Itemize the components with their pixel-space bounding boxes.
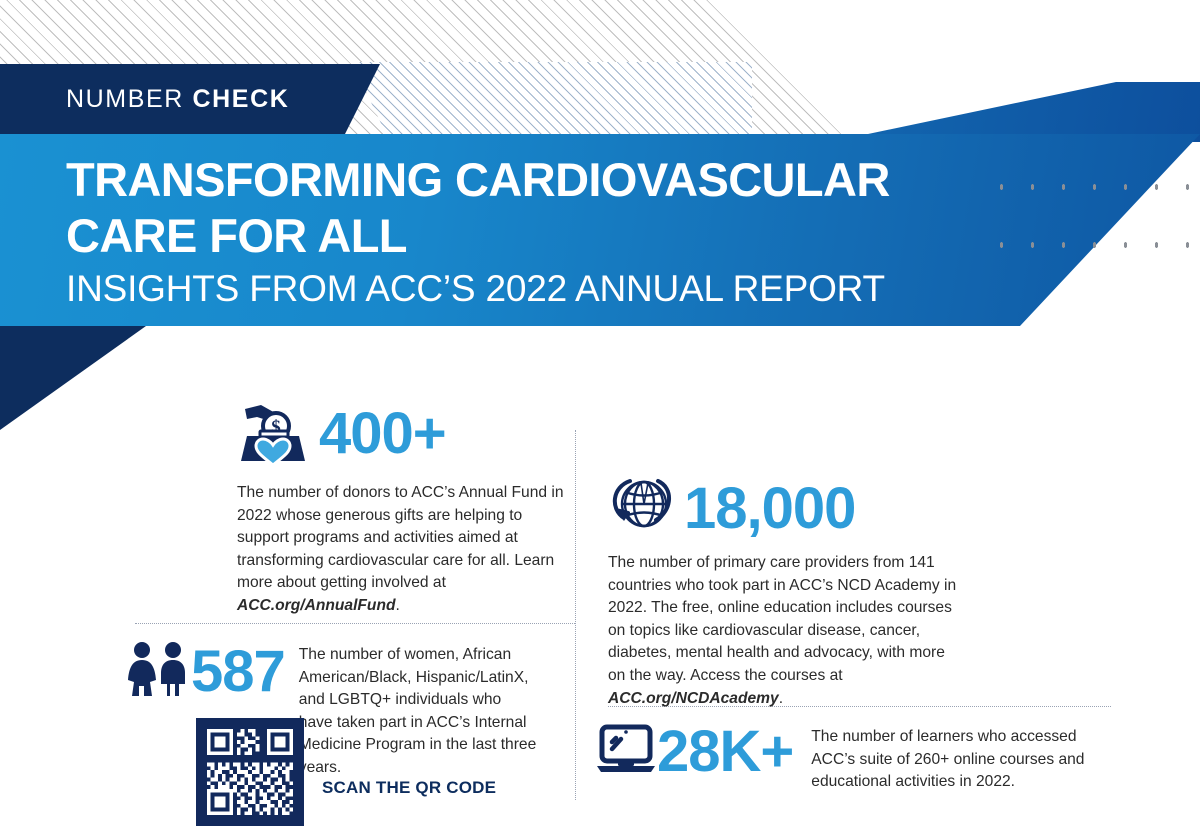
stat-body-text: The number of primary care providers fro…	[608, 554, 956, 684]
stat-body-online-learners: The number of learners who accessed ACC’…	[811, 726, 1101, 794]
stat-body-donors: The number of donors to ACC’s Annual Fun…	[237, 482, 567, 618]
page-title-line-1: TRANSFORMING CARDIOVASCULAR	[66, 152, 966, 208]
number-check-tab: NUMBER CHECK	[0, 64, 380, 134]
page-subtitle: INSIGHTS FROM ACC’S 2022 ANNUAL REPORT	[66, 268, 966, 310]
stat-number-online-learners: 28K+	[657, 723, 793, 781]
stat-body-suffix: .	[779, 690, 783, 707]
stat-body-ncd-academy: The number of primary care providers fro…	[608, 552, 958, 710]
stat-number-donors: 400+	[319, 405, 446, 463]
stat-body-internal-medicine: The number of women, African American/Bl…	[299, 644, 539, 780]
eyebrow-label-bold: CHECK	[192, 85, 289, 113]
donation-box-icon: $	[237, 395, 309, 472]
column-divider	[575, 430, 576, 800]
stat-block-online-learners: 28K+ The number of learners who accessed…	[595, 722, 1120, 794]
stat-body-wrap-internal-medicine: The number of women, African American/Bl…	[299, 640, 539, 780]
stat-headline-internal-medicine: 587	[125, 640, 285, 703]
diagonal-hatch-pattern-secondary	[352, 62, 752, 134]
left-column-divider	[135, 623, 575, 624]
stat-block-ncd-academy: 18,000 The number of primary care provid…	[608, 475, 958, 710]
stat-block-internal-medicine: 587 The number of women, African America…	[125, 640, 575, 780]
dot-grid-pattern	[980, 152, 1200, 262]
globe-icon	[608, 475, 674, 542]
stat-number-internal-medicine: 587	[191, 643, 285, 701]
two-people-icon	[125, 640, 191, 703]
laptop-icon	[595, 722, 657, 781]
stat-body-text: The number of donors to ACC’s Annual Fun…	[237, 484, 564, 591]
scan-qr-label: SCAN THE QR CODE	[322, 778, 496, 798]
stat-number-ncd-academy: 18,000	[684, 480, 855, 538]
page-title-line-2: CARE FOR ALL	[66, 208, 966, 264]
stat-link-ncd-academy[interactable]: ACC.org/NCDAcademy	[608, 690, 779, 707]
navy-corner-triangle	[0, 326, 150, 430]
qr-code-matrix	[203, 725, 297, 819]
qr-code[interactable]	[196, 718, 304, 826]
qr-code-canvas[interactable]	[196, 718, 304, 826]
header-region: NUMBER CHECK TRANSFORMING CARDIOVASCULAR…	[0, 0, 1200, 430]
stat-body-suffix: .	[396, 597, 400, 614]
stat-headline-online-learners: 28K+	[595, 722, 793, 781]
stat-body-wrap-online-learners: The number of learners who accessed ACC’…	[811, 722, 1101, 794]
stat-block-donors: $ 400+ The number of donors to ACC’s Ann…	[237, 395, 567, 618]
eyebrow-label: NUMBER CHECK	[66, 85, 289, 114]
eyebrow-label-light: NUMBER	[66, 85, 192, 113]
stat-link-annual-fund[interactable]: ACC.org/AnnualFund	[237, 597, 396, 614]
headline-block: TRANSFORMING CARDIOVASCULAR CARE FOR ALL…	[66, 152, 966, 310]
stats-content-region: $ 400+ The number of donors to ACC’s Ann…	[0, 430, 1200, 800]
stat-headline-ncd-academy: 18,000	[608, 475, 958, 542]
stat-headline-donors: $ 400+	[237, 395, 567, 472]
